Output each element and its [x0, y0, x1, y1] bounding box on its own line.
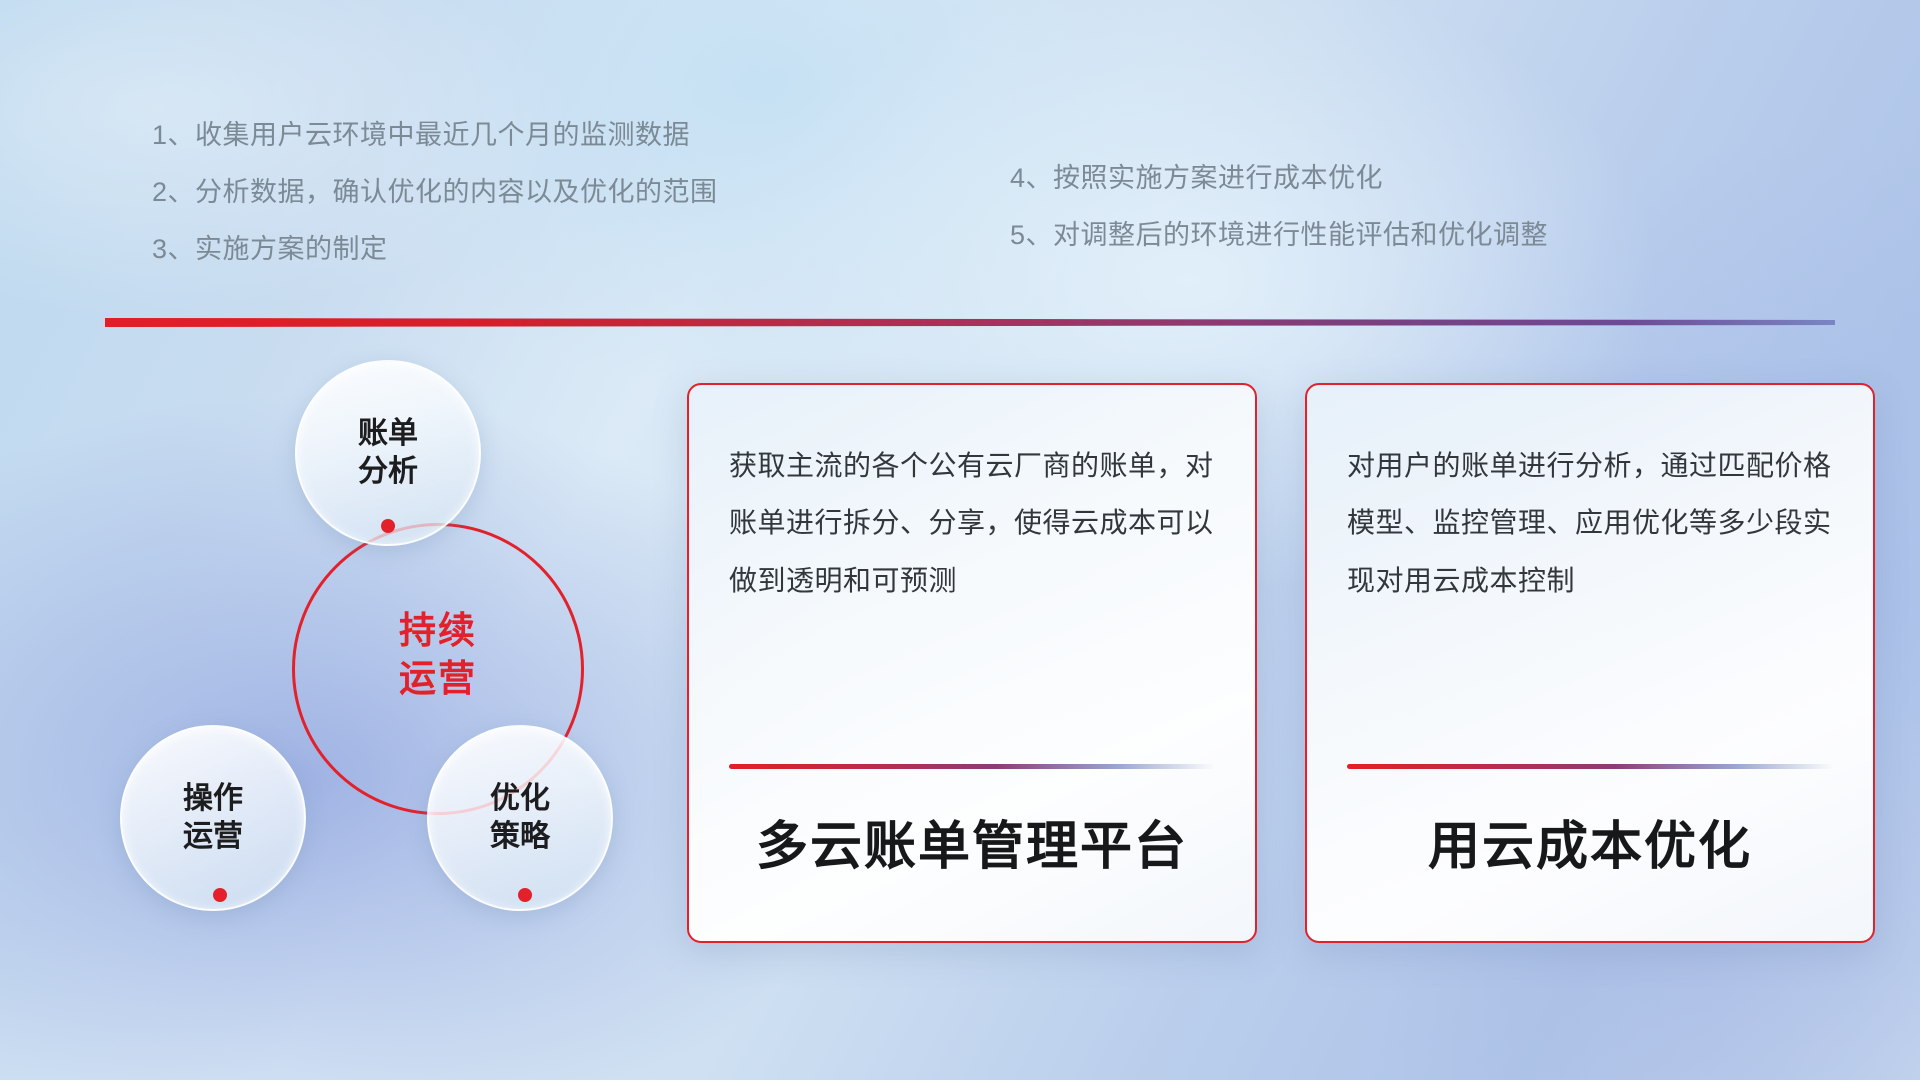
continuous-operation-diagram: 账单 分析 操作 运营 优化 策略 持续 运营 — [100, 345, 660, 945]
card-1-body: 获取主流的各个公有云厂商的账单，对账单进行拆分、分享，使得云成本可以做到透明和可… — [729, 437, 1215, 609]
node-dot-left — [213, 888, 227, 902]
section-divider — [105, 318, 1835, 327]
diagram-center-label: 持续 运营 — [338, 607, 538, 703]
steps-list-left: 1、收集用户云环境中最近几个月的监测数据 2、分析数据，确认优化的内容以及优化的… — [152, 122, 718, 293]
bubble-bill-analysis-line2: 分析 — [358, 453, 418, 491]
bubble-optimization-strategy[interactable]: 优化 策略 — [427, 725, 613, 911]
bubble-bill-analysis-line1: 账单 — [358, 415, 418, 453]
steps-list-right: 4、按照实施方案进行成本优化 5、对调整后的环境进行性能评估和优化调整 — [1010, 165, 1548, 279]
card-2-accent-rule — [1347, 764, 1833, 769]
bubble-operation-line2: 运营 — [183, 818, 243, 856]
step-item-3: 3、实施方案的制定 — [152, 236, 718, 263]
bubble-optimization-strategy-line2: 策略 — [490, 818, 550, 856]
bubble-operation[interactable]: 操作 运营 — [120, 725, 306, 911]
step-item-2: 2、分析数据，确认优化的内容以及优化的范围 — [152, 179, 718, 206]
card-multi-cloud-bill-platform[interactable]: 获取主流的各个公有云厂商的账单，对账单进行拆分、分享，使得云成本可以做到透明和可… — [687, 383, 1257, 943]
card-2-body: 对用户的账单进行分析，通过匹配价格模型、监控管理、应用优化等多少段实现对用云成本… — [1347, 437, 1833, 609]
card-cloud-cost-optimization[interactable]: 对用户的账单进行分析，通过匹配价格模型、监控管理、应用优化等多少段实现对用云成本… — [1305, 383, 1875, 943]
card-1-accent-rule — [729, 764, 1215, 769]
card-1-title: 多云账单管理平台 — [729, 804, 1215, 879]
bubble-optimization-strategy-line1: 优化 — [490, 780, 550, 818]
node-dot-right — [518, 888, 532, 902]
node-dot-top — [381, 519, 395, 533]
diagram-center-label-line1: 持续 — [338, 607, 538, 655]
card-2-title: 用云成本优化 — [1347, 804, 1833, 879]
step-item-1: 1、收集用户云环境中最近几个月的监测数据 — [152, 122, 718, 149]
slide-canvas: 1、收集用户云环境中最近几个月的监测数据 2、分析数据，确认优化的内容以及优化的… — [0, 0, 1920, 1080]
step-item-5: 5、对调整后的环境进行性能评估和优化调整 — [1010, 222, 1548, 249]
bubble-operation-line1: 操作 — [183, 780, 243, 818]
step-item-4: 4、按照实施方案进行成本优化 — [1010, 165, 1548, 192]
diagram-center-label-line2: 运营 — [338, 655, 538, 703]
